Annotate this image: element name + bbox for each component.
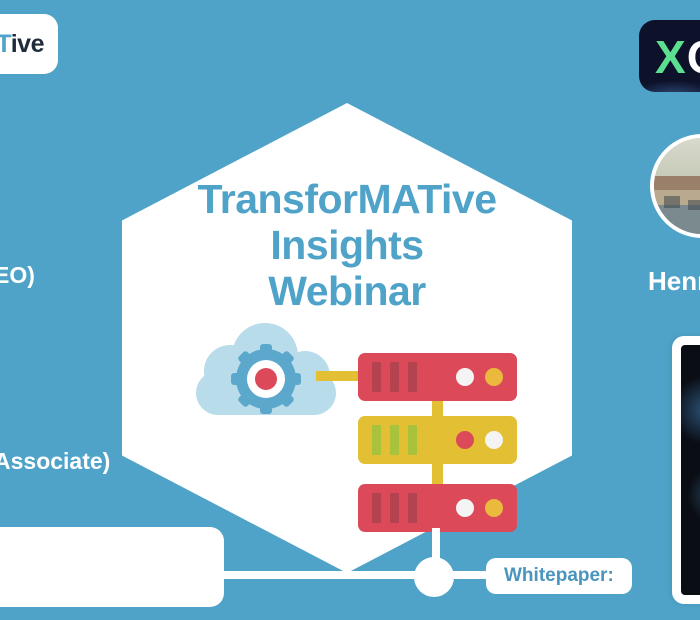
session-title-line-3: sformation [0,580,206,602]
server-rack-middle [358,416,517,464]
status-dot-yellow [485,368,503,386]
page-title: TransforMATive Insights Webinar [122,176,572,314]
page-title-line-1: TransforMATive [122,176,572,222]
status-dot-white [456,368,474,386]
status-dot-yellow [485,499,503,517]
partner-logo-card: XO [639,20,700,92]
server-rack-middle-bars [372,425,417,455]
server-rack-top-dots [456,368,503,386]
status-dot-white [456,499,474,517]
server-rack-bottom [358,484,517,532]
device-preview-card [672,336,700,604]
avatar-photo-image [654,138,700,234]
speaker-name-label: Henry [648,266,700,297]
session-title-line-2: yber Resilience for [0,558,206,580]
device-screen-glow-2 [687,465,700,525]
whitepaper-label: Whitepaper: [504,565,614,587]
gear-icon [233,346,299,412]
speaker-avatar [650,134,700,238]
brand-logo-text: ATive [0,30,44,59]
speaker-role-label-1: EO) [0,262,35,289]
gear-icon-center-dot [255,368,277,390]
partner-logo-letter-x: X [655,31,687,83]
page-title-line-2: Insights [122,222,572,268]
server-rack-bottom-bars [372,493,417,523]
partner-logo-text: XO [655,30,700,84]
server-rack-top [358,353,517,401]
webinar-graphic-canvas: ATive XO Henry EO) Associate) TransforMA… [0,0,700,620]
server-rack-bottom-dots [456,499,503,517]
page-title-line-3: Webinar [122,268,572,314]
session-title-line-1: g Digital Futures in [0,536,206,558]
brand-logo-card: ATive [0,14,58,74]
whitepaper-label-pill: Whitepaper: [486,558,632,594]
network-node-circle [414,557,454,597]
avatar-photo-band-1 [654,176,700,189]
partner-logo-letter-o: O [687,31,700,83]
server-rack-middle-dots [456,431,503,449]
session-title-card: g Digital Futures in yber Resilience for… [0,527,224,607]
server-rack-top-bars [372,362,417,392]
device-preview-screen [681,345,700,595]
connector-node-to-title-card [196,571,436,579]
brand-logo-text-blue: AT [0,30,11,58]
speaker-role-label-2: Associate) [0,448,110,475]
avatar-photo-detail-2 [688,200,700,210]
brand-logo-text-dark: ive [11,30,44,58]
status-dot-red [456,431,474,449]
device-screen-glow-1 [681,375,700,445]
avatar-photo-sky [654,138,700,176]
avatar-photo-detail-1 [664,196,680,208]
status-dot-white [485,431,503,449]
